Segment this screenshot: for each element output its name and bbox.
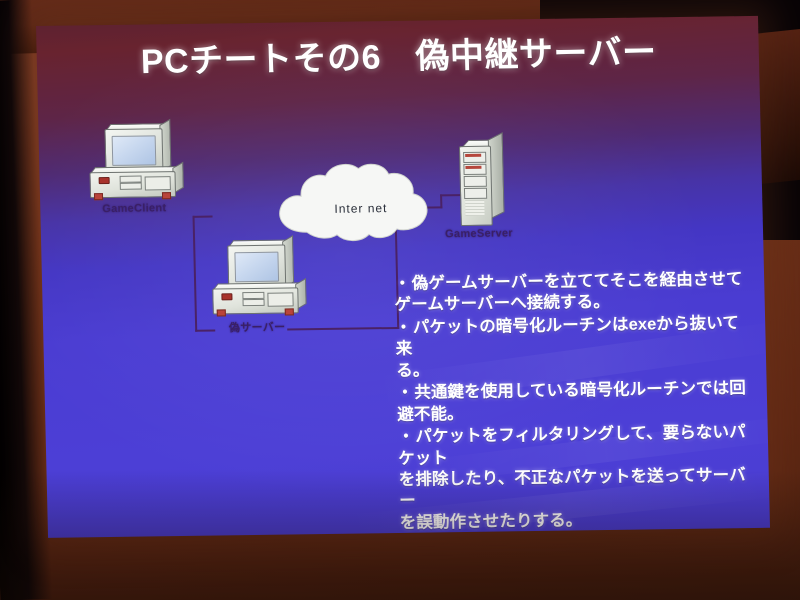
desktop-pc-icon [88, 128, 186, 201]
node-label-game-client: GameClient [102, 202, 166, 215]
slide-bullet-line: ・共通鍵を使用している暗号化ルーチンでは回 [397, 379, 747, 402]
projection-screen: PCチートその6 偽中継サーバー [36, 16, 770, 538]
slide-bullet-list: ・偽ゲームサーバーを立ててそこを経由させてゲームサーバーへ接続する。・パケットの… [394, 269, 760, 535]
bullet-marker: ・ [394, 275, 411, 293]
slide-bullet: ・共通鍵を使用している暗号化ルーチンでは回避不能。 [397, 378, 758, 426]
tower-server-icon [459, 139, 507, 224]
bullet-marker: ・ [398, 428, 415, 446]
link-client-to-fake-bottom [195, 330, 215, 332]
node-label-fake-server: 偽サーバー [229, 319, 286, 336]
slide-bullet-line: ・パケットをフィルタリングして、要らないパケット [398, 423, 746, 467]
bullet-marker: ・ [397, 384, 414, 402]
slide-bullet-line: ・パケットの暗号化ルーチンはexeから抜いて来 [395, 314, 739, 358]
cloud-label-internet: Inter net [334, 201, 387, 216]
presentation-slide: PCチートその6 偽中継サーバー [36, 16, 770, 538]
link-fake-to-cloud-horizontal [287, 327, 399, 331]
bullet-marker: ・ [395, 319, 412, 337]
slide-bullet-line: 避不能。 [397, 405, 464, 424]
slide-bullet: ・パケットをフィルタリングして、要らないパケットを排除したり、不正なパケットを送… [398, 422, 761, 534]
slide-bullet-line: を誤動作させたりする。 [400, 511, 583, 532]
node-game-client: GameClient [88, 128, 186, 201]
slide-bullet: ・パケットの暗号化ルーチンはexeから抜いて来る。 [395, 313, 756, 382]
desktop-pc-icon [211, 244, 309, 317]
node-game-server: GameServer [459, 139, 507, 224]
slide-bullet: ・偽ゲームサーバーを立ててそこを経由させてゲームサーバーへ接続する。 [394, 269, 755, 317]
slide-bullet-line: を排除したり、不正なパケットを送ってサーバー [399, 466, 746, 510]
link-cloud-to-server-seg2 [440, 194, 442, 208]
link-client-to-fake-top [193, 216, 213, 218]
slide-bullet-line: る。 [396, 361, 430, 379]
node-fake-server: 偽サーバー [211, 244, 309, 317]
node-label-game-server: GameServer [445, 227, 513, 240]
node-internet-cloud: Inter net [271, 158, 433, 246]
slide-bullet-line: ・偽ゲームサーバーを立ててそこを経由させて [394, 270, 743, 293]
photo-stage: PCチートその6 偽中継サーバー [0, 0, 800, 600]
slide-bullet-line: ゲームサーバーへ接続する。 [394, 293, 610, 314]
link-client-to-fake-vertical [193, 216, 198, 332]
